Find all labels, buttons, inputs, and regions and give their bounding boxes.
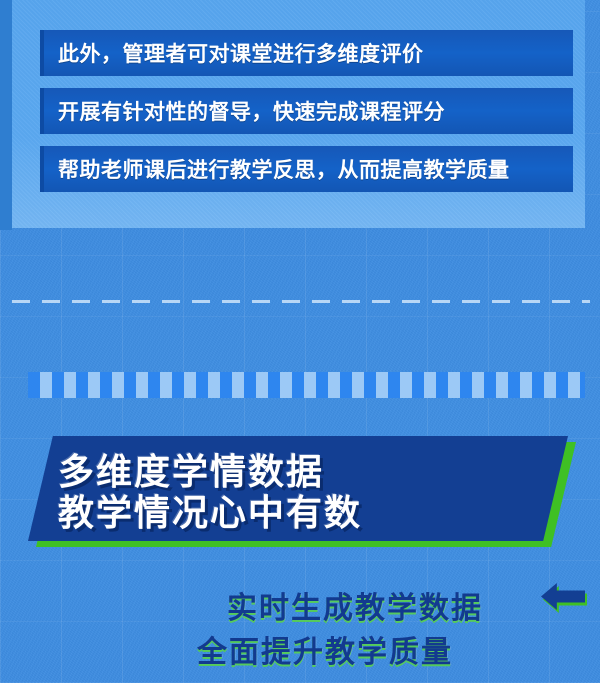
- arrow-body: [541, 583, 585, 610]
- headline-block: 多维度学情数据 教学情况心中有数: [0, 430, 600, 555]
- arrow-left-icon: [541, 583, 587, 613]
- bar-left-ridge: [40, 146, 44, 192]
- poster-canvas: 此外，管理者可对课堂进行多维度评价 开展有针对性的督导，快速完成课程评分 帮助老…: [0, 0, 600, 683]
- slogan-line-1: 实时生成教学数据: [227, 583, 483, 627]
- bullet-text: 此外，管理者可对课堂进行多维度评价: [40, 38, 424, 68]
- dashed-divider: [12, 300, 590, 303]
- headline-line-1: 多维度学情数据: [58, 452, 578, 492]
- bullet-bar-group: 此外，管理者可对课堂进行多维度评价 开展有针对性的督导，快速完成课程评分 帮助老…: [0, 0, 600, 230]
- bullet-bar: 帮助老师课后进行教学反思，从而提高教学质量: [40, 146, 573, 192]
- headline-line-2: 教学情况心中有数: [58, 493, 578, 533]
- bullet-text: 开展有针对性的督导，快速完成课程评分: [40, 96, 445, 126]
- slogan-line-2: 全面提升教学质量: [197, 627, 453, 671]
- bullet-bar: 此外，管理者可对课堂进行多维度评价: [40, 30, 573, 76]
- striped-accent-bar: [28, 372, 585, 398]
- bullet-bar: 开展有针对性的督导，快速完成课程评分: [40, 88, 573, 134]
- slogan-block: 实时生成教学数据 全面提升教学质量: [0, 575, 600, 683]
- headline-text-group: 多维度学情数据 教学情况心中有数: [58, 430, 578, 555]
- bullet-text: 帮助老师课后进行教学反思，从而提高教学质量: [40, 154, 510, 184]
- bar-left-ridge: [40, 88, 44, 134]
- bar-left-ridge: [40, 30, 44, 76]
